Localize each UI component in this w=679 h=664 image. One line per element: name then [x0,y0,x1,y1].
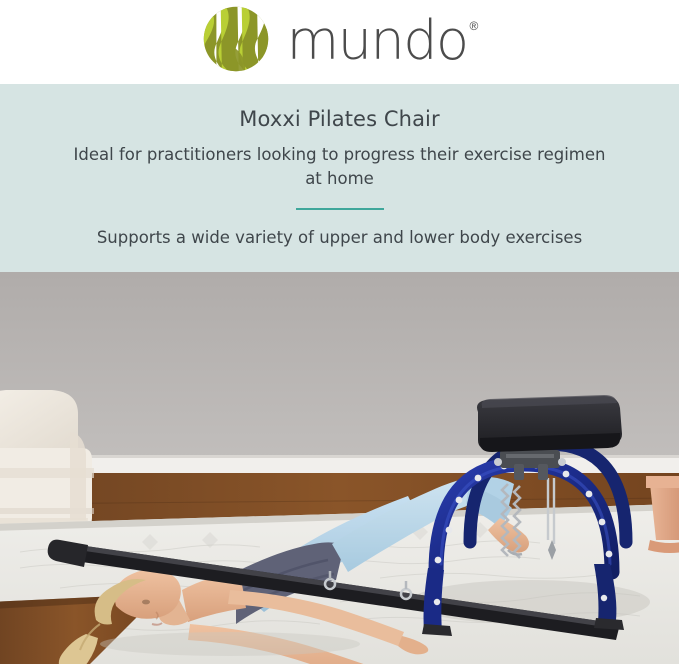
photo-illustration [0,272,679,664]
product-title: Moxxi Pilates Chair [0,107,679,132]
section-divider [296,208,384,210]
mundo-leaf-circle-logo-icon [201,4,271,74]
brand-logo-lockup[interactable]: mundo ® [201,4,479,74]
brand-header: mundo ® [0,0,679,84]
brand-wordmark-text: mundo [287,14,468,68]
product-tagline: Supports a wide variety of upper and low… [0,226,679,249]
product-info-card: mundo ® Moxxi Pilates Chair Ideal for pr… [0,0,679,664]
brand-wordmark: mundo ® [287,12,479,66]
product-subtitle: Ideal for practitioners looking to progr… [0,143,679,191]
registered-trademark-icon: ® [470,20,479,32]
product-lifestyle-photo [0,272,679,664]
product-info-panel: Moxxi Pilates Chair Ideal for practition… [0,84,679,272]
